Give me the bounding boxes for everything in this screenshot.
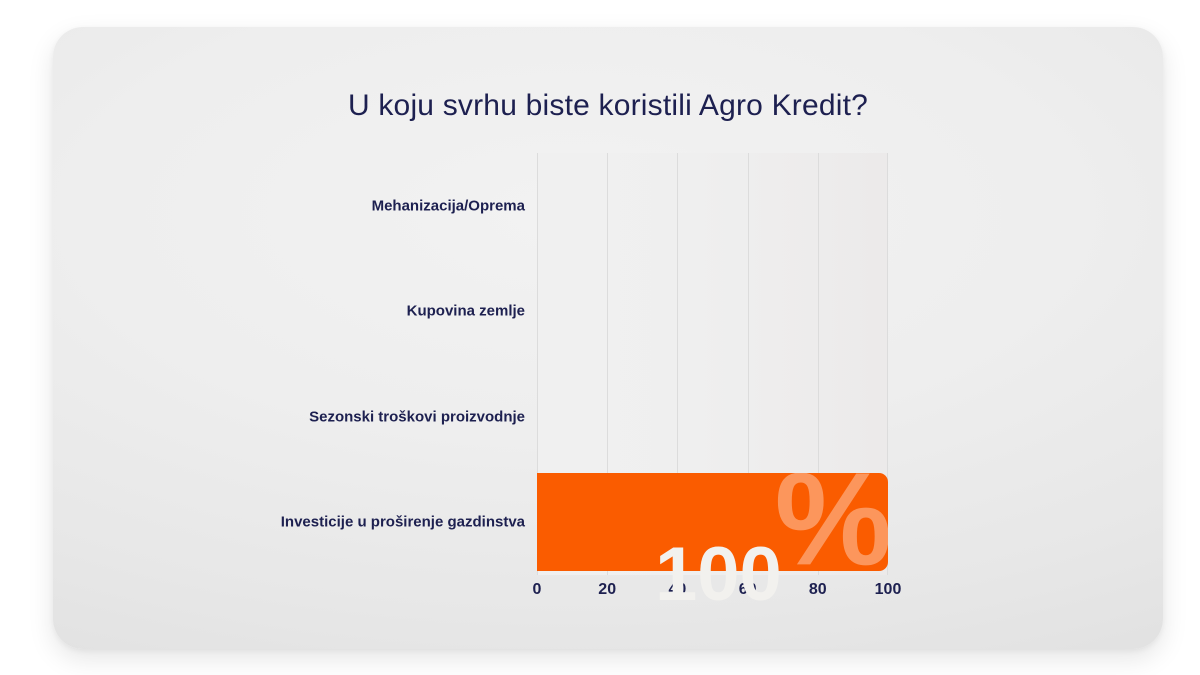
chart-card: U koju svrhu biste koristili Agro Kredit… <box>53 27 1163 649</box>
screenshot-root: U koju svrhu biste koristili Agro Kredit… <box>0 0 1200 675</box>
bar-value-label: 100 <box>655 537 782 613</box>
page-title: U koju svrhu biste koristili Agro Kredit… <box>53 89 1163 123</box>
percent-glyph: % <box>775 473 888 571</box>
x-axis-tick-label: 20 <box>598 581 616 599</box>
bars-layer: %100 <box>537 153 888 575</box>
bar-row <box>537 153 888 259</box>
x-axis-tick-label: 80 <box>809 581 827 599</box>
y-axis-category-labels: Mehanizacija/OpremaKupovina zemljeSezons… <box>53 153 531 575</box>
x-axis-tick-label: 100 <box>875 581 902 599</box>
bar-row <box>537 259 888 365</box>
y-axis-label: Mehanizacija/Oprema <box>53 197 531 214</box>
bar-row <box>537 364 888 470</box>
bar-row: %100 <box>537 470 888 576</box>
y-axis-label: Sezonski troškovi proizvodnje <box>53 408 531 425</box>
y-axis-label: Investicije u proširenje gazdinstva <box>53 514 531 531</box>
y-axis-label: Kupovina zemlje <box>53 303 531 320</box>
x-axis-tick-label: 0 <box>533 581 542 599</box>
